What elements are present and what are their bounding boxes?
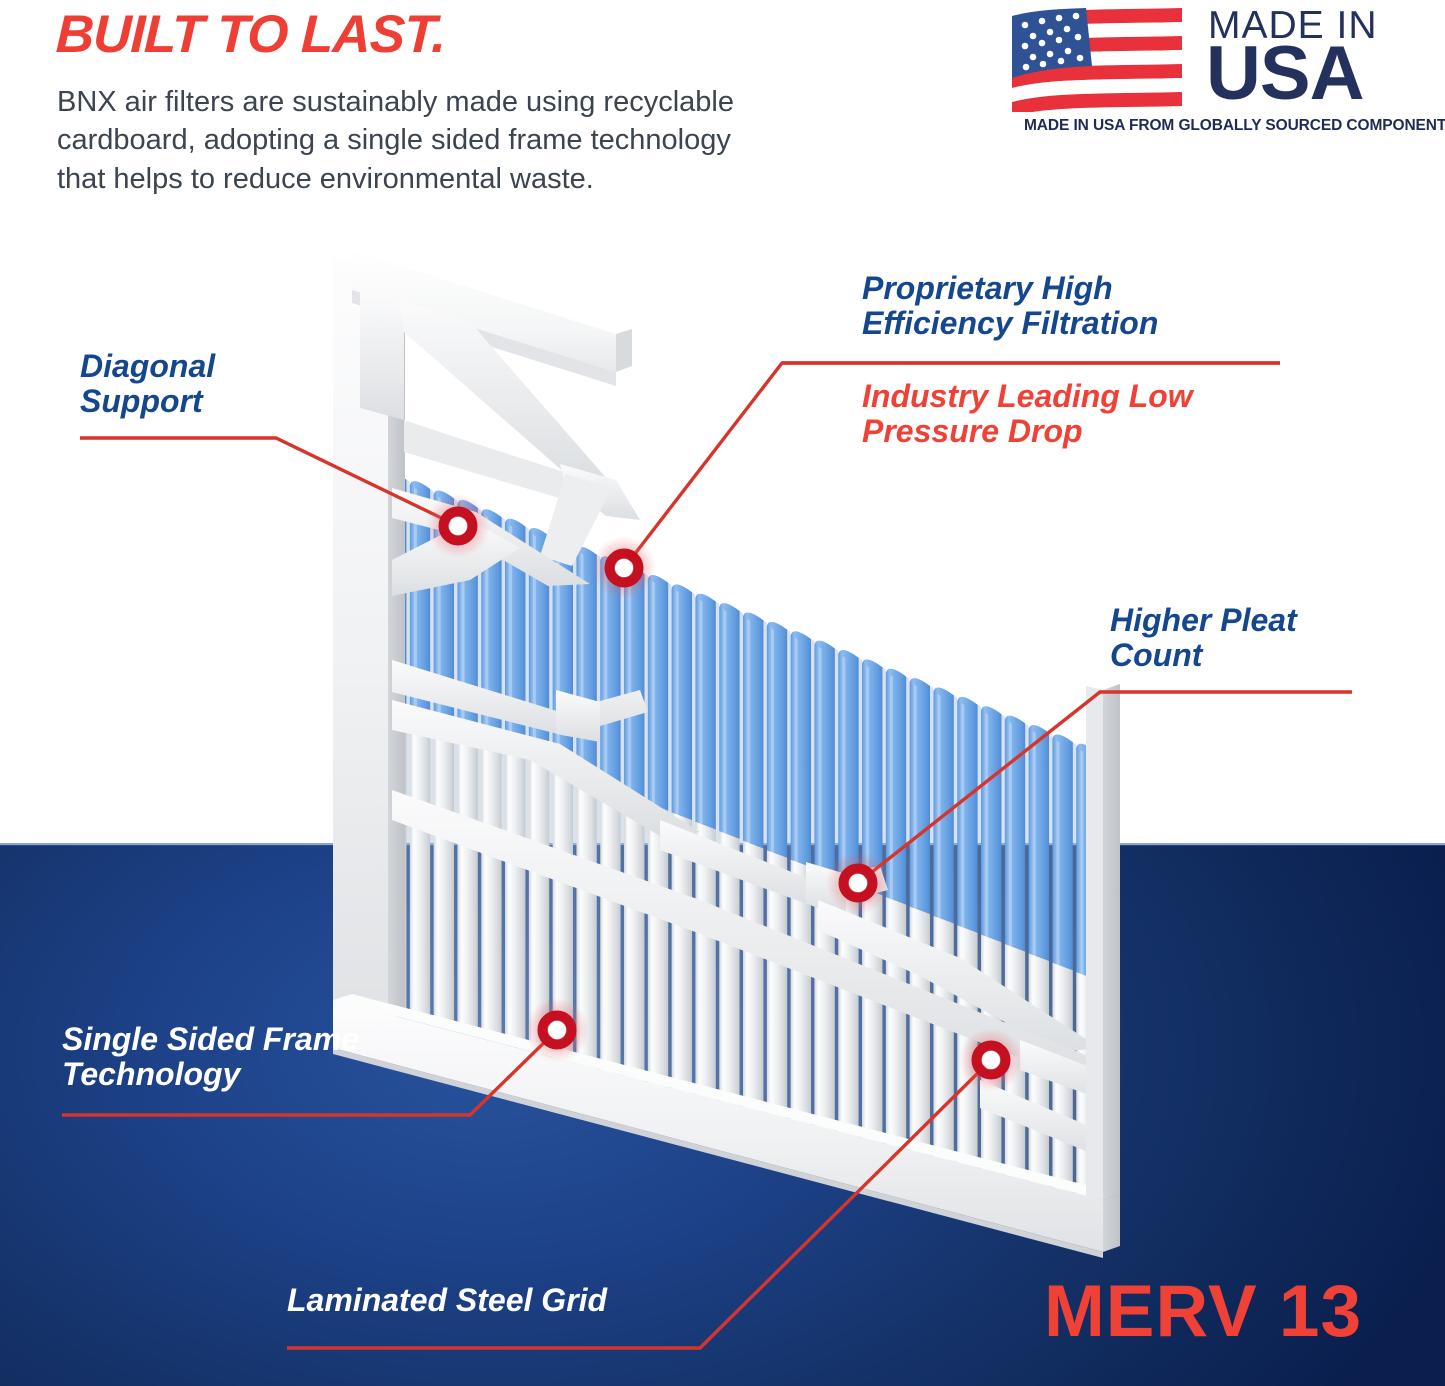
callout-low-pressure-drop: Industry Leading Low Pressure Drop [862,379,1193,449]
merv-rating-badge: MERV 13 [1044,1270,1362,1353]
callout-single-sided-frame: Single Sided Frame Technology [62,1022,359,1092]
callout-laminated-steel-grid: Laminated Steel Grid [287,1283,607,1318]
marker-single-sided-frame[interactable] [525,998,589,1062]
callout-higher-pleat-count: Higher Pleat Count [1110,603,1297,673]
feature-markers [0,0,1445,1386]
marker-steel-grid[interactable] [959,1028,1023,1092]
page-description: BNX air filters are sustainably made usi… [57,83,747,198]
usa-label: USA [1206,36,1363,112]
usa-flag-icon [1012,8,1182,112]
marker-filtration[interactable] [592,536,656,600]
callout-diagonal-support: Diagonal Support [80,349,215,419]
made-in-usa-badge: MADE IN USA MADE IN USA FROM GLOBALLY SO… [1012,4,1432,134]
callout-proprietary-filtration: Proprietary High Efficiency Filtration [862,271,1158,341]
badge-disclaimer: MADE IN USA FROM GLOBALLY SOURCED COMPON… [1024,117,1434,135]
page-title: BUILT TO LAST. [55,4,446,65]
infographic-canvas: BUILT TO LAST. BNX air filters are susta… [0,0,1445,1386]
marker-diagonal-support[interactable] [426,494,490,558]
marker-pleat-count[interactable] [826,851,890,915]
